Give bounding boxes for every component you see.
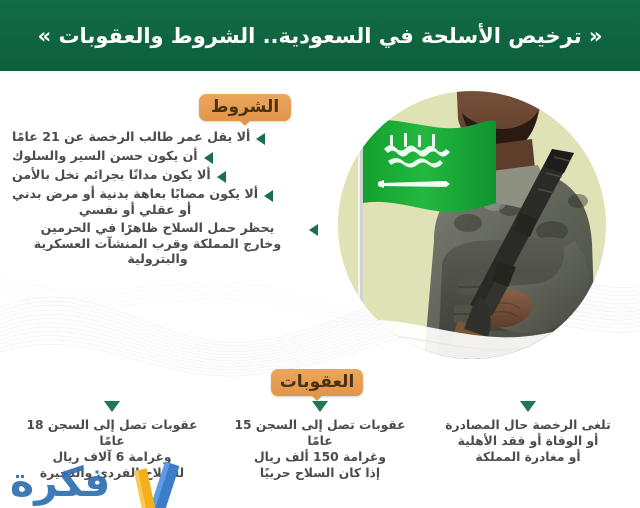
infographic-root: « ترخيص الأسلحة في السعودية.. الشروط وال… xyxy=(0,0,640,508)
portrait-disc xyxy=(338,91,606,359)
triangle-bullet-icon xyxy=(217,171,226,183)
page-title: « ترخيص الأسلحة في السعودية.. الشروط وال… xyxy=(38,24,603,48)
section-badge-penalties: العقوبات xyxy=(271,369,363,396)
down-arrow-icon xyxy=(520,401,536,412)
penalty-text-line3: أو مغادرة المملكة xyxy=(430,449,626,465)
down-arrow-icon xyxy=(312,401,328,412)
condition-text: أن يكون حسن السير والسلوك xyxy=(12,148,198,163)
penalty-column: عقوبات تصل إلى السجن 18 عامًا وغرامة 6 آ… xyxy=(14,401,210,481)
triangle-bullet-icon xyxy=(256,133,265,145)
section-badge-conditions: الشروط xyxy=(199,94,291,121)
conditions-list: ألا يقل عمر طالب الرخصة عن 21 عامًا أن ي… xyxy=(12,129,318,270)
condition-text: ألا يكون مدانًا بجرائم تخل بالأمن xyxy=(12,167,211,182)
triangle-bullet-icon xyxy=(264,190,273,202)
penalty-column: عقوبات تصل إلى السجن 15 عامًا وغرامة 150… xyxy=(222,401,418,481)
condition-text: يحظر حمل السلاح ظاهرًا في الحرمين xyxy=(41,220,275,235)
triangle-bullet-icon xyxy=(309,224,318,236)
penalty-text-line2: وغرامة 6 آلاف ريال xyxy=(14,449,210,465)
header-band: « ترخيص الأسلحة في السعودية.. الشروط وال… xyxy=(0,0,640,71)
penalty-column: تلغى الرخصة حال المصادرة أو الوفاة أو فق… xyxy=(430,401,626,481)
condition-item: ألا يكون مصابًا بعاهة بدنية أو مرض بدني … xyxy=(12,186,318,217)
condition-text-line2: أو عقلي أو نفسي xyxy=(12,202,258,218)
penalty-text-line1: عقوبات تصل إلى السجن 18 عامًا xyxy=(14,417,210,449)
condition-text-line2: وخارج المملكة وقرب المنشآت العسكرية والب… xyxy=(12,236,303,267)
condition-item: ألا يكون مدانًا بجرائم تخل بالأمن xyxy=(12,167,318,183)
triangle-bullet-icon xyxy=(204,152,213,164)
condition-item: يحظر حمل السلاح ظاهرًا في الحرمين وخارج … xyxy=(12,220,318,267)
soldier-with-flag-photo xyxy=(338,91,606,359)
condition-text: ألا يكون مصابًا بعاهة بدنية أو مرض بدني xyxy=(12,186,258,201)
penalty-text-line2: وغرامة 150 ألف ريال xyxy=(222,449,418,465)
condition-text: ألا يقل عمر طالب الرخصة عن 21 عامًا xyxy=(12,129,250,144)
down-arrow-icon xyxy=(104,401,120,412)
penalty-text-line1: تلغى الرخصة حال المصادرة xyxy=(430,417,626,433)
penalty-text-line2: أو الوفاة أو فقد الأهلية xyxy=(430,433,626,449)
penalty-text-line3: للسلاح الفردي والذخيرة xyxy=(14,465,210,481)
condition-item: أن يكون حسن السير والسلوك xyxy=(12,148,318,164)
penalty-text-line1: عقوبات تصل إلى السجن 15 عامًا xyxy=(222,417,418,449)
penalty-text-line3: إذا كان السلاح حربيًا xyxy=(222,465,418,481)
condition-item: ألا يقل عمر طالب الرخصة عن 21 عامًا xyxy=(12,129,318,145)
penalties-row: عقوبات تصل إلى السجن 18 عامًا وغرامة 6 آ… xyxy=(0,401,640,481)
body-area: الشروط ألا يقل عمر طالب الرخصة عن 21 عام… xyxy=(0,71,640,508)
